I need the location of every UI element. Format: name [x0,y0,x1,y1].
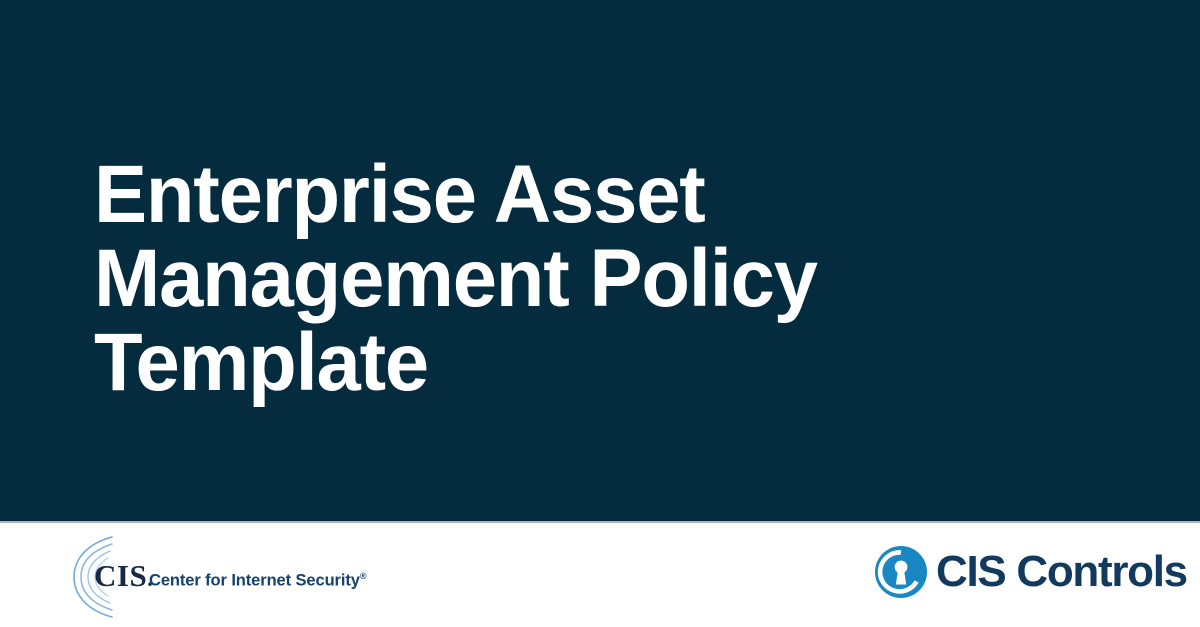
cis-tagline-text: Center for Internet Security [149,572,360,590]
cis-wordmark-text: CIS [94,558,147,593]
hero-banner: Enterprise Asset Management Policy Templ… [0,0,1200,521]
poster-page: Enterprise Asset Management Policy Templ… [0,0,1200,627]
cis-tagline: Center for Internet Security® [149,567,366,590]
registered-trademark-icon: ® [360,571,367,581]
footer-bar: CIS. Center for Internet Security® CIS C… [0,523,1200,627]
keyhole-in-circle-icon [874,545,928,599]
cis-controls-wordmark: CIS Controls [936,548,1187,596]
page-title: Enterprise Asset Management Policy Templ… [94,153,928,405]
cis-controls-logo[interactable]: CIS Controls [874,545,1164,607]
cis-wordmark: CIS. [94,560,153,594]
cis-logo[interactable]: CIS. Center for Internet Security® [72,534,372,620]
